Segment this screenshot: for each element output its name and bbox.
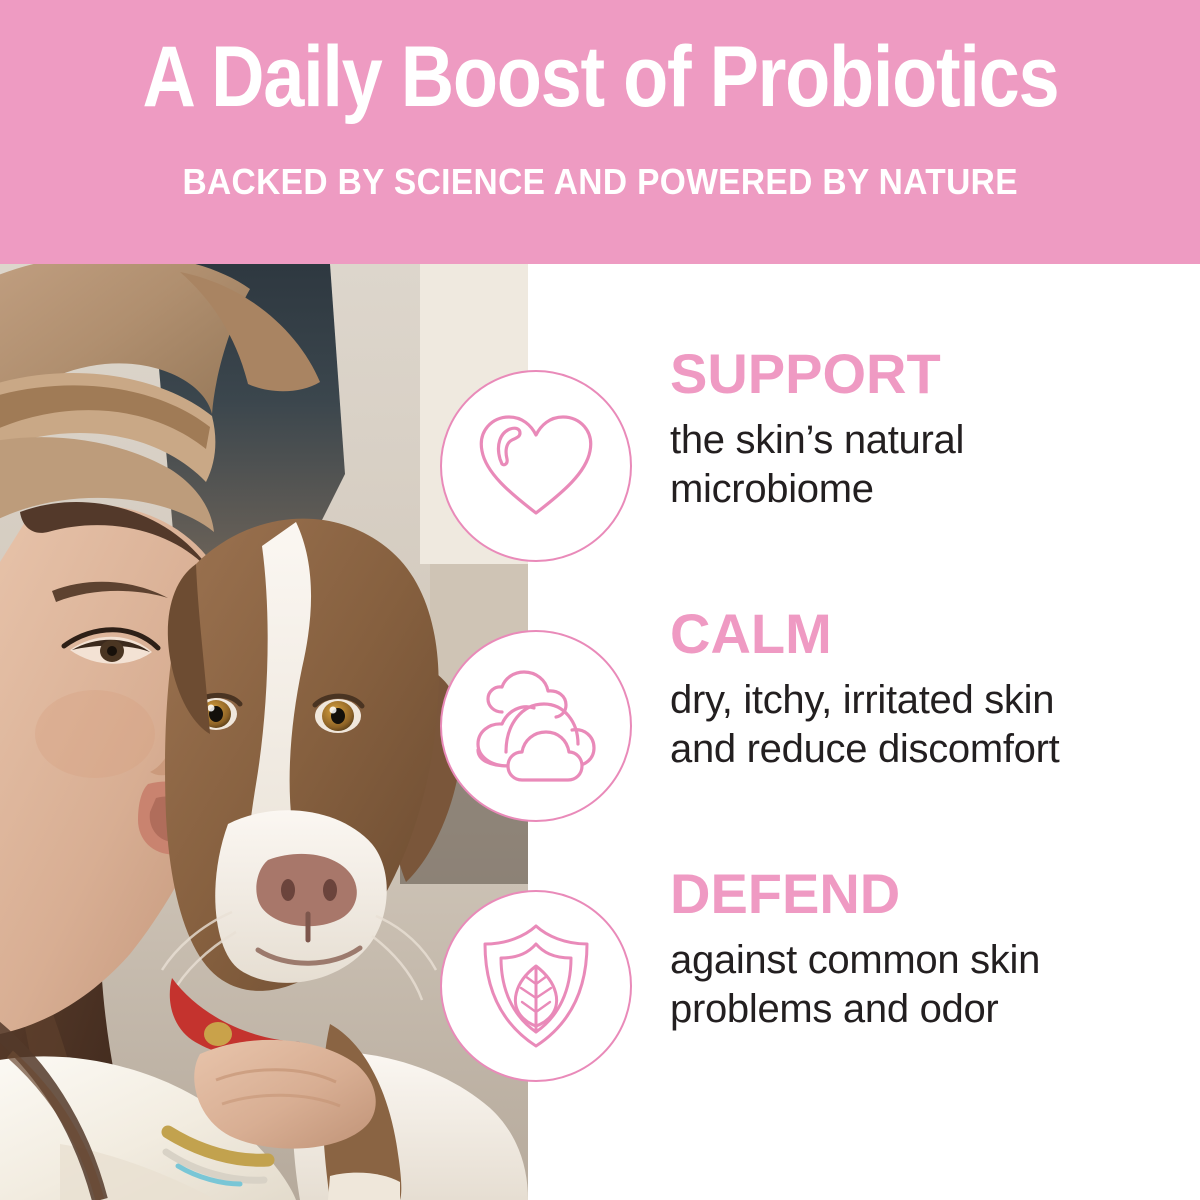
- heart-icon: [440, 370, 632, 562]
- shield-leaf-icon: [440, 890, 632, 1082]
- header-banner: A Daily Boost of Probiotics BACKED BY SC…: [0, 0, 1200, 264]
- benefit-body-line1: against common skin: [670, 936, 1200, 985]
- benefit-body-support: the skin’s natural microbiome: [670, 416, 1200, 514]
- benefit-text-support: SUPPORT the skin’s natural microbiome: [670, 346, 1200, 514]
- benefits-list: SUPPORT the skin’s natural microbiome: [528, 264, 1200, 1200]
- promo-poster: A Daily Boost of Probiotics BACKED BY SC…: [0, 0, 1200, 1200]
- benefit-heading-defend: DEFEND: [670, 866, 1200, 922]
- benefit-body-line2: and reduce discomfort: [670, 725, 1200, 774]
- benefit-item-calm: CALM dry, itchy, irritated skin and redu…: [528, 606, 1200, 846]
- benefit-body-line1: dry, itchy, irritated skin: [670, 676, 1200, 725]
- benefit-body-calm: dry, itchy, irritated skin and reduce di…: [670, 676, 1200, 774]
- benefit-heading-calm: CALM: [670, 606, 1200, 662]
- benefit-body-line2: problems and odor: [670, 985, 1200, 1034]
- page-subtitle: BACKED BY SCIENCE AND POWERED BY NATURE: [182, 164, 1017, 200]
- clouds-icon: [440, 630, 632, 822]
- benefit-text-calm: CALM dry, itchy, irritated skin and redu…: [670, 606, 1200, 774]
- benefit-body-line1: the skin’s natural: [670, 416, 1200, 465]
- benefit-item-support: SUPPORT the skin’s natural microbiome: [528, 346, 1200, 586]
- benefit-heading-support: SUPPORT: [670, 346, 1200, 402]
- benefit-item-defend: DEFEND against common skin problems and …: [528, 866, 1200, 1106]
- shield-leaf-icon-glyph: [475, 922, 597, 1050]
- benefit-body-line2: microbiome: [670, 465, 1200, 514]
- clouds-icon-glyph: [472, 670, 600, 782]
- benefit-body-defend: against common skin problems and odor: [670, 936, 1200, 1034]
- benefit-text-defend: DEFEND against common skin problems and …: [670, 866, 1200, 1034]
- heart-icon-glyph: [476, 411, 596, 521]
- page-title: A Daily Boost of Probiotics: [142, 34, 1058, 120]
